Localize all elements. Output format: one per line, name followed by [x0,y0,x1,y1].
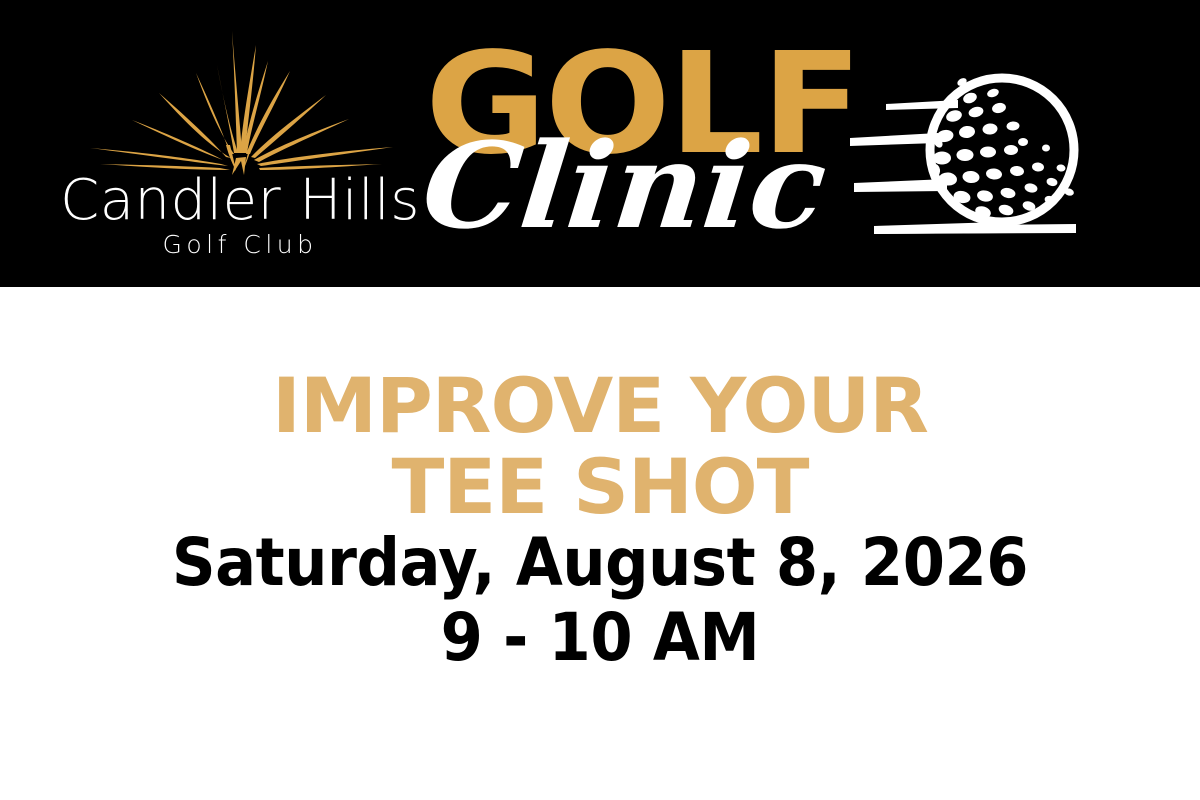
event-time: 9 - 10 AM [48,600,1152,675]
title-lockup: GOLF Clinic [425,35,865,265]
datetime: Saturday, August 8, 2026 9 - 10 AM [48,525,1152,675]
headline-line-1: IMPROVE YOUR [0,365,1200,446]
headline: IMPROVE YOUR TEE SHOT [0,365,1200,527]
event-date: Saturday, August 8, 2026 [48,525,1152,600]
title-clinic-script: Clinic [418,127,832,245]
speed-line-2 [850,133,938,146]
headline-line-2: TEE SHOT [0,446,1200,527]
club-logo: Candler Hills Golf Club [60,25,420,275]
golf-clinic-flyer: Candler Hills Golf Club GOLF Clinic [0,0,1200,800]
club-subtitle: Golf Club [60,232,420,257]
golf-ball-with-speed-lines [850,30,1150,280]
body-block: IMPROVE YOUR TEE SHOT Saturday, August 8… [0,287,1200,800]
club-name: Candler Hills [60,173,420,229]
palmetto-grass-burst-icon [60,25,420,175]
